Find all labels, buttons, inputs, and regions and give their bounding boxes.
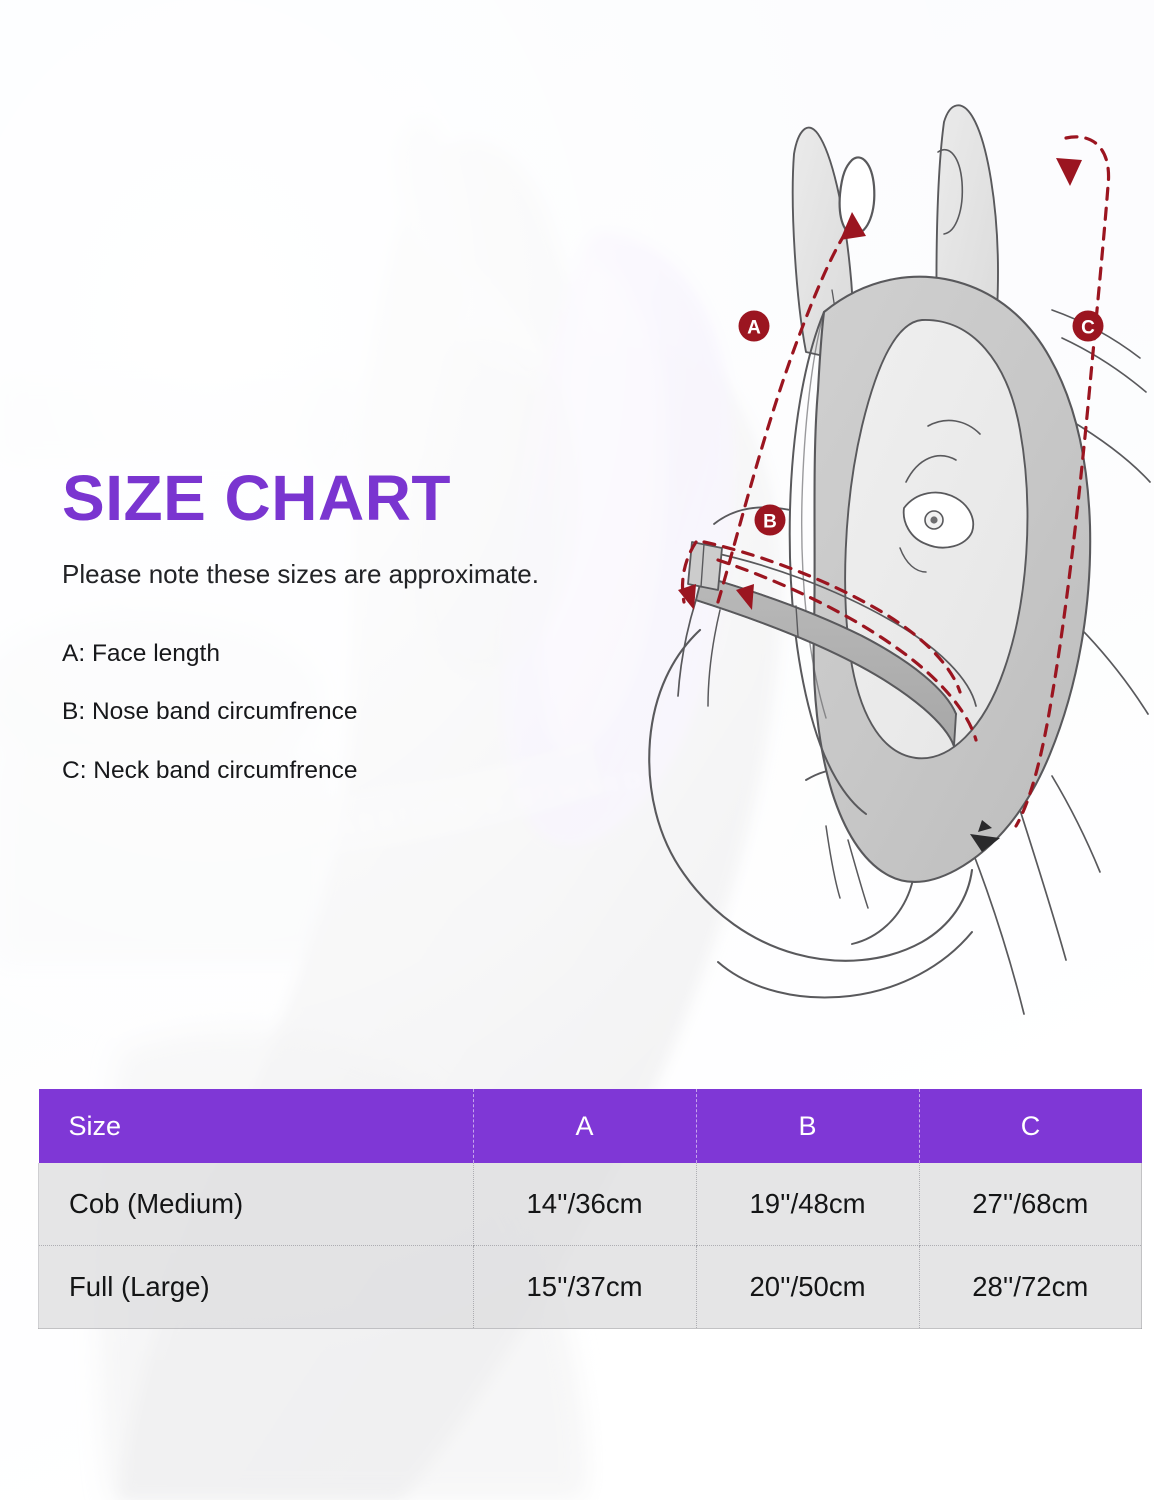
size-table: Size A B C Cob (Medium) 14''/36cm 19''/4… [38,1089,1142,1329]
legend-item-c: C: Neck band circumfrence [62,759,682,784]
column-header-b: B [696,1089,919,1163]
size-table-body: Cob (Medium) 14''/36cm 19''/48cm 27''/68… [39,1163,1142,1329]
fly-mask-diagram: A B C [600,90,1154,1050]
svg-text:B: B [763,512,777,533]
approximate-note: Please note these sizes are approximate. [62,558,682,592]
cell-full-c: 28''/72cm [919,1246,1142,1329]
intro-text-block: SIZE CHART Please note these sizes are a… [62,465,682,783]
cell-size-cob: Cob (Medium) [39,1163,474,1246]
table-row: Full (Large) 15''/37cm 20''/50cm 28''/72… [39,1246,1142,1329]
table-header-row: Size A B C [39,1089,1142,1163]
cell-full-b: 20''/50cm [696,1246,919,1329]
legend-item-a: A: Face length [62,642,682,667]
size-chart-page: HARRISON ® HOWARD [0,0,1154,1500]
arrowhead-c-top [1056,158,1082,186]
cell-full-a: 15''/37cm [473,1246,696,1329]
svg-text:A: A [747,318,761,339]
cell-cob-b: 19''/48cm [696,1163,919,1246]
legend-item-b: B: Nose band circumfrence [62,700,682,725]
page-title: SIZE CHART [62,465,682,532]
marker-b: B [755,505,786,536]
marker-c: C [1073,311,1104,342]
svg-text:C: C [1081,318,1095,339]
cell-size-full: Full (Large) [39,1246,474,1329]
cell-cob-c: 27''/68cm [919,1163,1142,1246]
column-header-a: A [473,1089,696,1163]
cell-cob-a: 14''/36cm [473,1163,696,1246]
size-table-head: Size A B C [39,1089,1142,1163]
table-row: Cob (Medium) 14''/36cm 19''/48cm 27''/68… [39,1163,1142,1246]
column-header-c: C [919,1089,1142,1163]
column-header-size: Size [39,1089,474,1163]
marker-a: A [739,311,770,342]
